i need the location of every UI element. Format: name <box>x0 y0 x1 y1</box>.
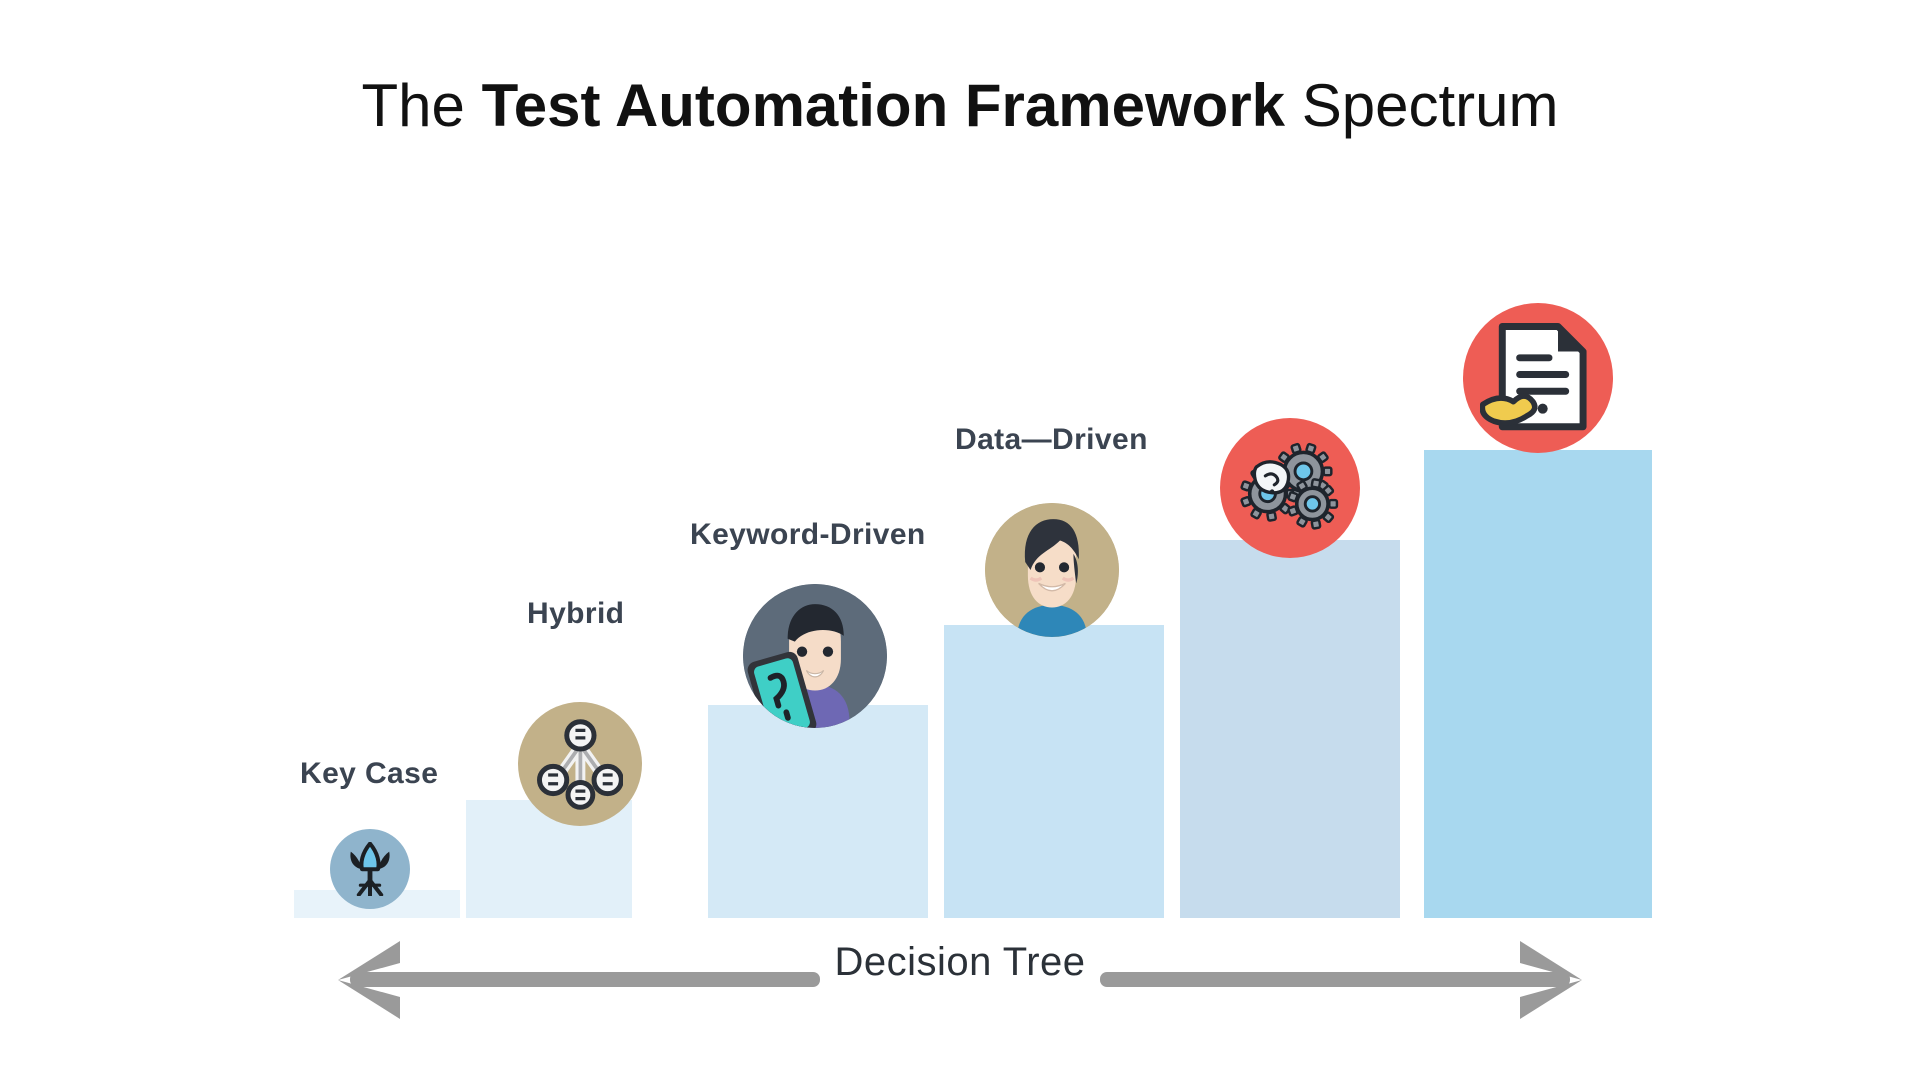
bar-4 <box>1180 540 1400 918</box>
avatar-man-with-phone-icon <box>743 584 887 728</box>
gears-settings-icon <box>1220 418 1360 558</box>
avatar-person-smiling-icon <box>985 503 1119 637</box>
bar-2 <box>708 705 928 918</box>
bar-label-3: Data—Driven <box>955 423 1148 457</box>
avatar-man-with-phone-icon-badge <box>743 584 887 728</box>
bar-label-2: Keyword-Driven <box>690 518 926 552</box>
bar-label-1: Hybrid <box>527 597 624 631</box>
rocket-launch-icon <box>330 829 410 909</box>
bar-3 <box>944 625 1164 918</box>
rocket-launch-icon-badge <box>330 829 410 909</box>
document-report-icon <box>1463 303 1613 453</box>
network-hub-icon <box>518 702 642 826</box>
bar-5 <box>1424 450 1652 918</box>
avatar-person-smiling-icon-badge <box>985 503 1119 637</box>
document-report-icon-badge <box>1463 303 1613 453</box>
axis-label: Decision Tree <box>0 940 1920 985</box>
network-hub-icon-badge <box>518 702 642 826</box>
bar-chart: Key Case Hybrid Keyword-Driven <box>0 0 1920 1080</box>
gears-settings-icon-badge <box>1220 418 1360 558</box>
bar-label-0: Key Case <box>300 757 438 791</box>
